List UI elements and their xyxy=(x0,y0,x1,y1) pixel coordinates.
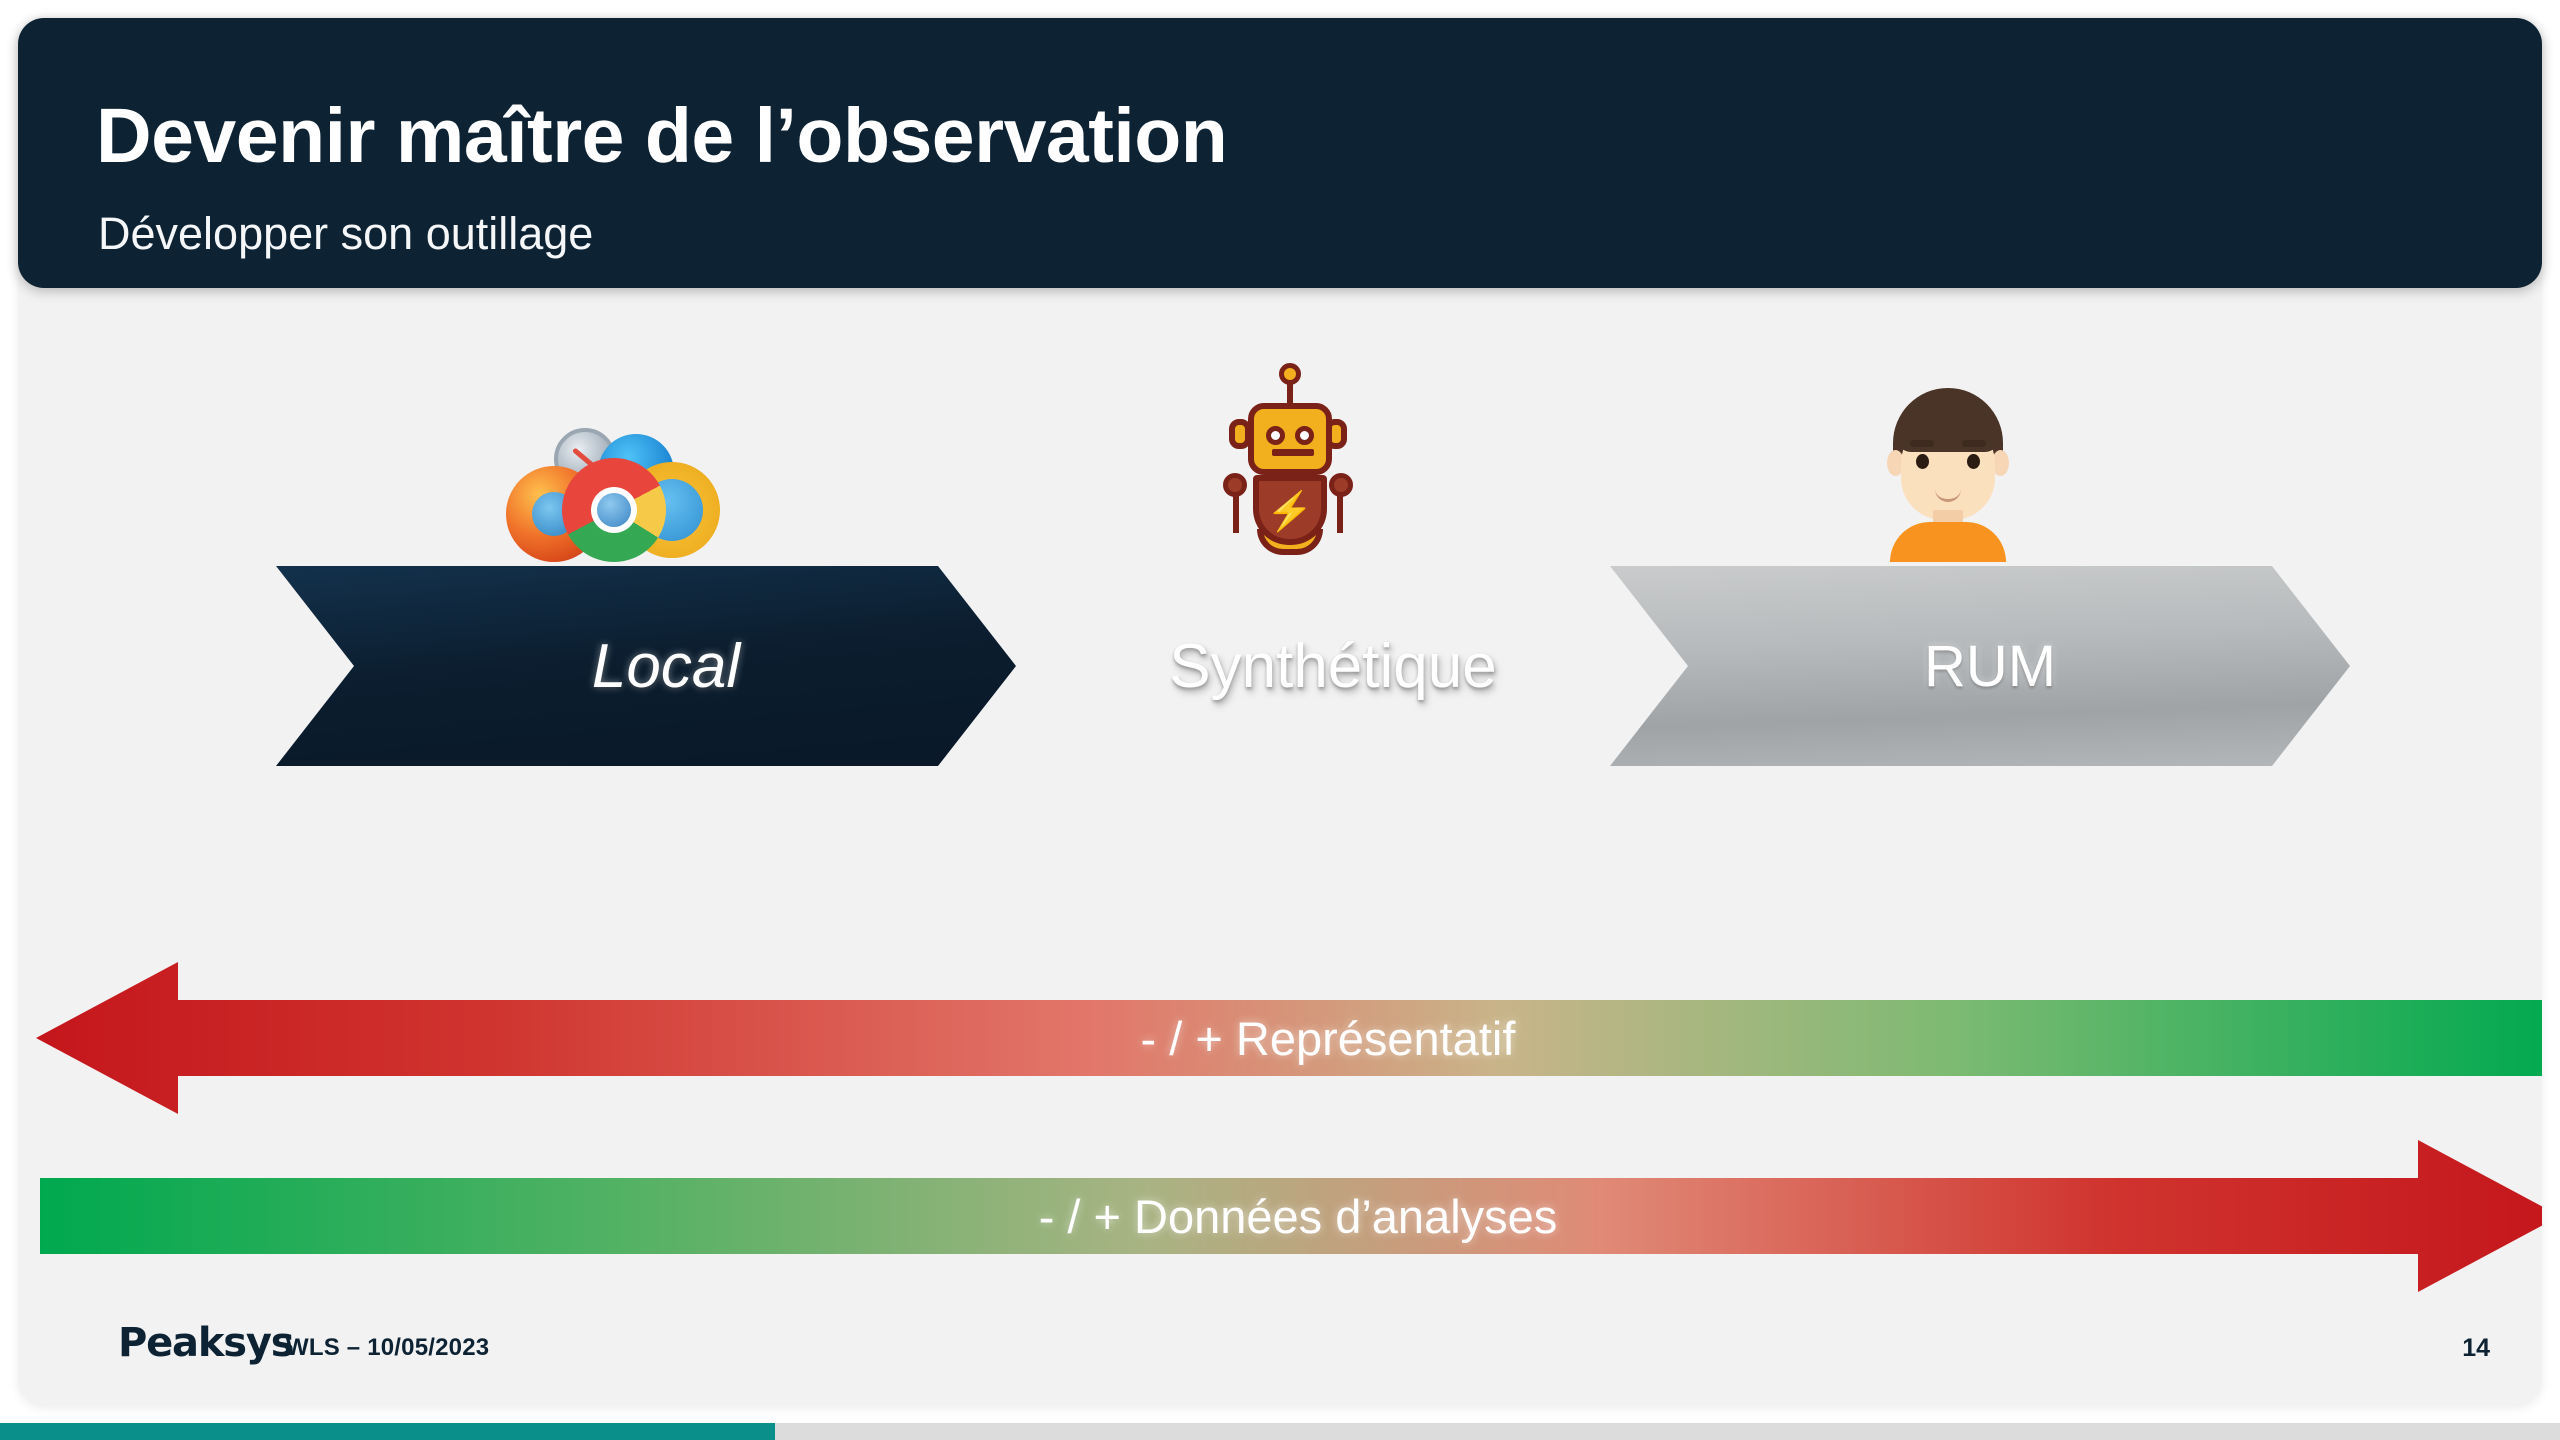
stage-label-local: Local xyxy=(592,631,740,702)
left-arrow-icon xyxy=(18,958,2542,1118)
stage-chevron-synthetique[interactable]: Synthétique xyxy=(943,566,1683,766)
robot-antenna-rod xyxy=(1287,383,1293,405)
footer-meta: WLS – 10/05/2023 xyxy=(286,1334,489,1362)
person-eye-left xyxy=(1916,454,1929,469)
browsers-icon xyxy=(506,428,721,558)
progress-fill xyxy=(0,1423,775,1440)
stage-chevron-row: Local Synthétique RUM xyxy=(18,566,2542,771)
browsers-icon-slot xyxy=(483,343,743,558)
person-icon-slot xyxy=(1818,343,2078,558)
lightning-bolt-icon: ⚡ xyxy=(1266,493,1313,531)
robot-arm-left xyxy=(1233,493,1239,533)
page-title: Devenir maître de l’observation xyxy=(96,96,1227,177)
slide-header: Devenir maître de l’observation Développ… xyxy=(18,18,2542,288)
stage-label-rum: RUM xyxy=(1924,633,2056,700)
axis-representatif: - / + Représentatif xyxy=(18,958,2542,1118)
robot-icon: ⚡ xyxy=(1223,363,1353,558)
robot-body: ⚡ xyxy=(1253,475,1327,545)
person-icon xyxy=(1884,388,2012,558)
axis-donnees-analyses: - / + Données d’analyses xyxy=(18,1136,2542,1296)
person-shirt xyxy=(1890,522,2006,562)
slide-footer: Peaksys WLS – 10/05/2023 14 xyxy=(18,1316,2542,1386)
person-brow-left xyxy=(1910,440,1934,447)
person-eye-right xyxy=(1967,454,1980,469)
robot-mouth xyxy=(1272,449,1314,456)
robot-antenna-ball xyxy=(1279,363,1301,385)
right-arrow-icon xyxy=(18,1136,2542,1296)
robot-icon-slot: ⚡ xyxy=(1158,343,1418,558)
icon-row: ⚡ xyxy=(18,343,2542,558)
brand-logo: Peaksys xyxy=(118,1320,293,1366)
page-number: 14 xyxy=(2462,1334,2490,1363)
robot-eye-right xyxy=(1295,426,1314,445)
stage-label-synthetique: Synthétique xyxy=(1169,631,1496,702)
slide: ⚡ xyxy=(0,0,2560,1440)
robot-arm-right xyxy=(1337,493,1343,533)
person-brow-right xyxy=(1962,440,1986,447)
stage-chevron-rum[interactable]: RUM xyxy=(1610,566,2350,766)
page-subtitle: Développer son outillage xyxy=(98,210,593,257)
stage-chevron-local[interactable]: Local xyxy=(276,566,1016,766)
progress-track[interactable] xyxy=(0,1423,2560,1440)
robot-head xyxy=(1248,403,1332,475)
robot-eye-left xyxy=(1266,426,1285,445)
chrome-icon xyxy=(562,458,666,562)
gradient-axes: - / + Représentatif xyxy=(18,958,2542,1318)
